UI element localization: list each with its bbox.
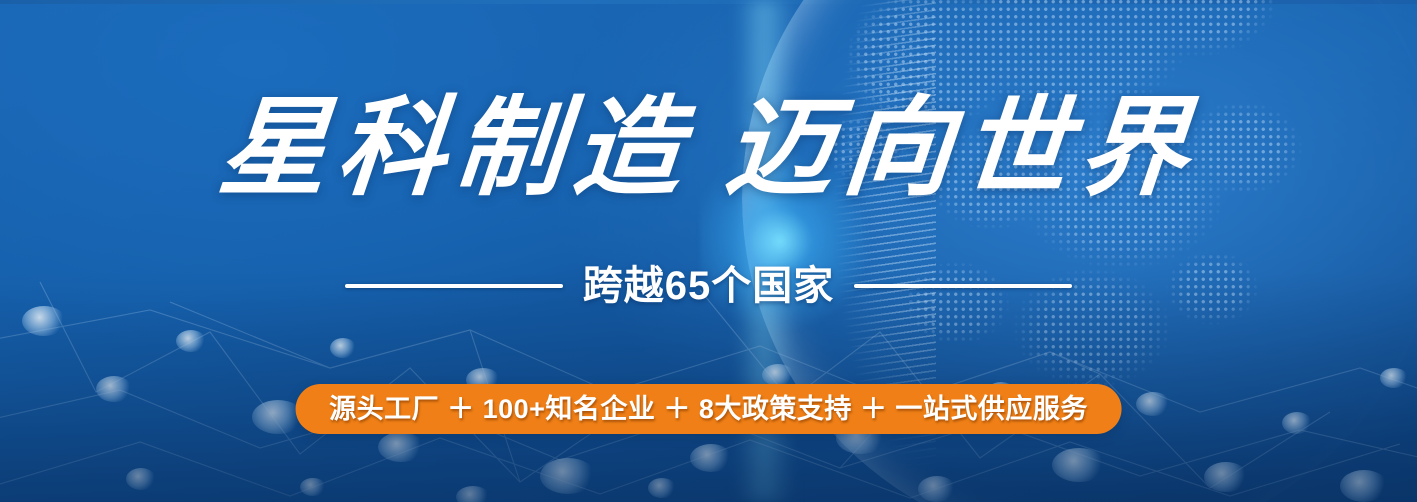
- promo-banner: 星科制造迈向世界 跨越65个国家 源头工厂 ＋ 100+知名企业 ＋ 8大政策支…: [0, 0, 1417, 502]
- subtitle-rule-right: [854, 284, 1072, 288]
- headline-part-2: 迈向世界: [720, 90, 1202, 209]
- subtitle-rule-left: [345, 284, 563, 288]
- headline-part-1: 星科制造: [214, 90, 696, 209]
- feature-pill-button[interactable]: 源头工厂 ＋ 100+知名企业 ＋ 8大政策支持 ＋ 一站式供应服务: [295, 384, 1122, 434]
- subtitle-text: 跨越65个国家: [583, 266, 835, 306]
- banner-content: 星科制造迈向世界 跨越65个国家 源头工厂 ＋ 100+知名企业 ＋ 8大政策支…: [0, 0, 1417, 502]
- subtitle-row: 跨越65个国家: [0, 266, 1417, 306]
- headline: 星科制造迈向世界: [0, 96, 1417, 204]
- feature-pill-label: 源头工厂 ＋ 100+知名企业 ＋ 8大政策支持 ＋ 一站式供应服务: [329, 396, 1088, 423]
